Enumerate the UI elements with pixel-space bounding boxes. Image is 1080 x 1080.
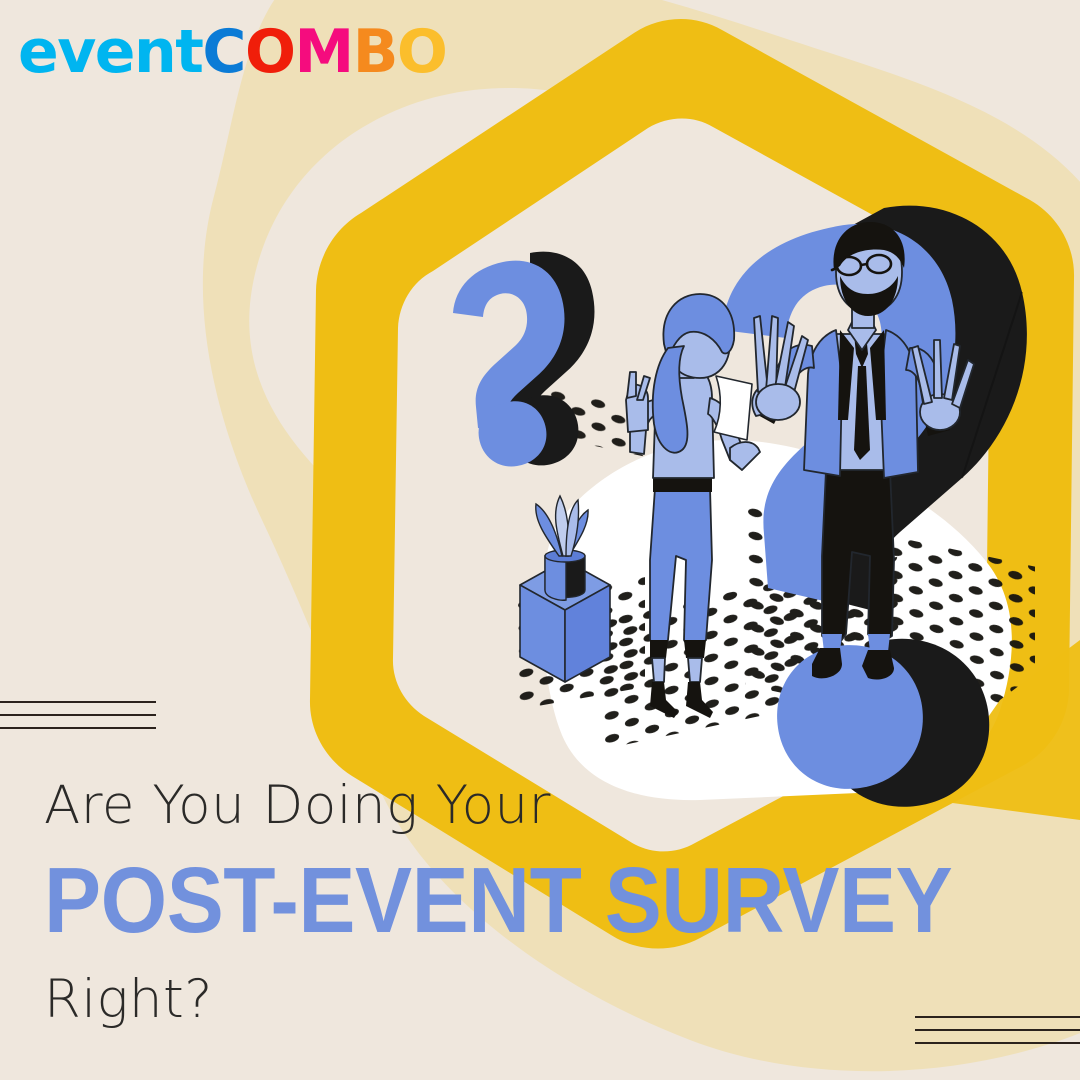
logo-letter-even: even xyxy=(18,22,175,82)
decorative-lines-left xyxy=(0,701,156,729)
deco-line xyxy=(0,727,156,729)
eventcombo-logo[interactable]: even t C O M B O xyxy=(18,22,446,82)
headline-line-2: POST-EVENT SURVEY xyxy=(44,854,952,947)
logo-letter-t: t xyxy=(175,22,202,82)
logo-letter-c: C xyxy=(202,22,245,82)
deco-line xyxy=(915,1029,1080,1031)
logo-letter-m: M xyxy=(294,22,352,82)
poster-canvas: even t C O M B O Are You Doing Your POST… xyxy=(0,0,1080,1080)
headline-line-3: Right? xyxy=(44,973,1031,1026)
deco-line xyxy=(0,714,156,716)
deco-line xyxy=(0,701,156,703)
headline-line-1: Are You Doing Your xyxy=(44,779,1031,832)
logo-letter-o1: O xyxy=(245,22,295,82)
headline-block: Are You Doing Your POST-EVENT SURVEY Rig… xyxy=(44,779,1031,1026)
deco-line xyxy=(915,1042,1080,1044)
logo-letter-b: B xyxy=(353,22,397,82)
logo-letter-o2: O xyxy=(397,22,447,82)
